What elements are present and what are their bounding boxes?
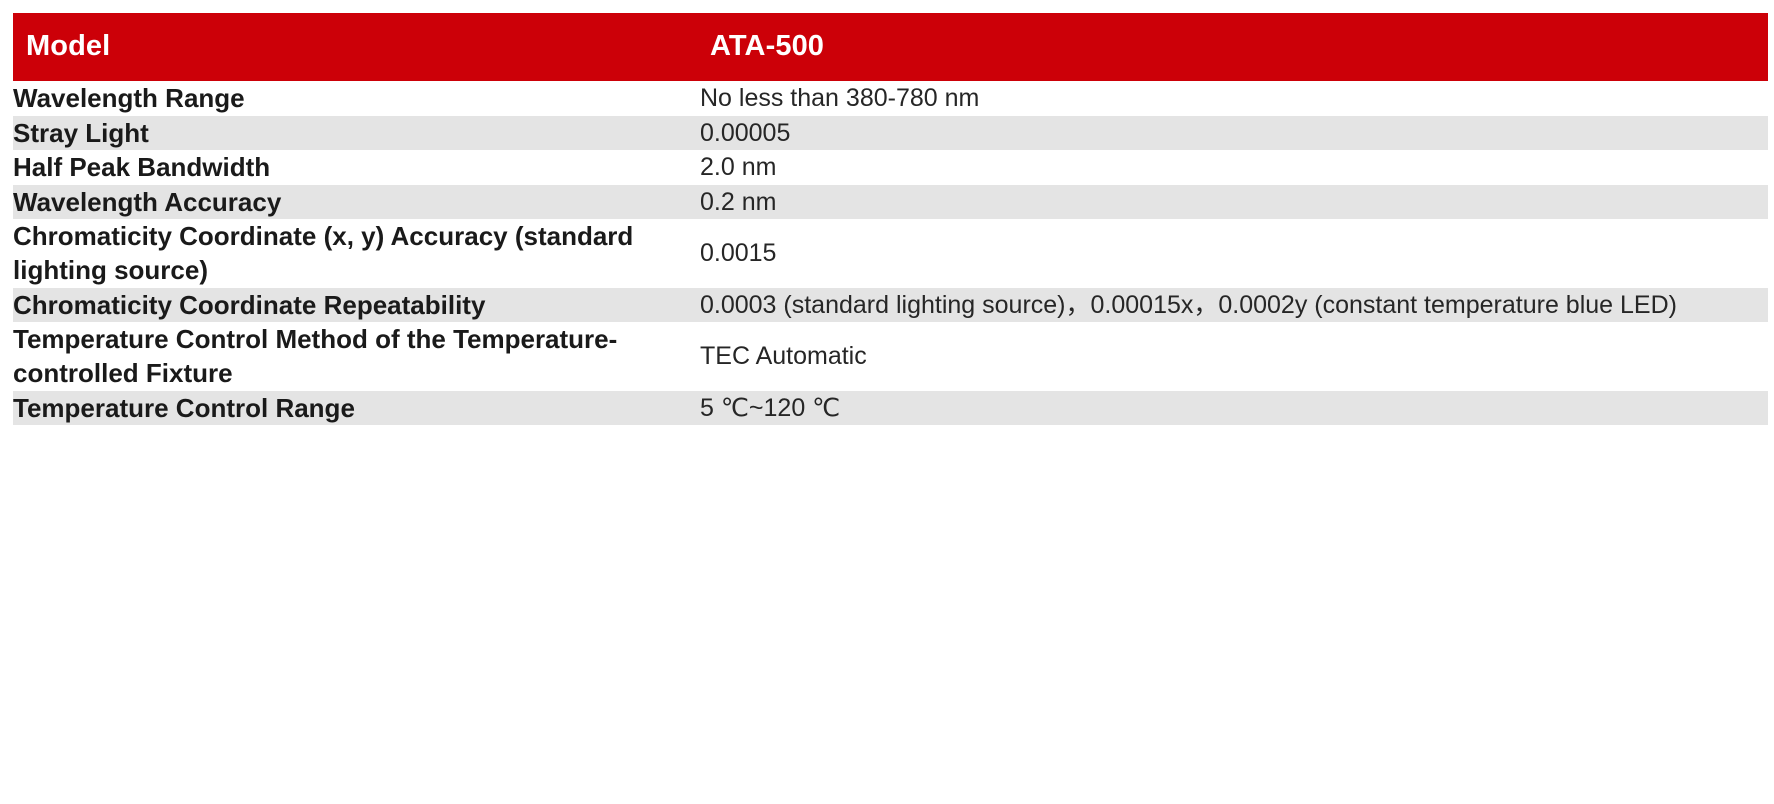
table-row: Wavelength Accuracy 0.2 nm bbox=[13, 185, 1768, 220]
specification-table-container: Model ATA-500 Wavelength Range No less t… bbox=[0, 0, 1774, 804]
table-row: Temperature Control Method of the Temper… bbox=[13, 322, 1768, 391]
row-value: 0.0003 (standard lighting source)，0.0001… bbox=[700, 288, 1768, 323]
row-label: Temperature Control Range bbox=[13, 391, 700, 426]
row-value: 0.0015 bbox=[700, 219, 1768, 288]
row-value: 0.00005 bbox=[700, 116, 1768, 151]
table-row: Chromaticity Coordinate Repeatability 0.… bbox=[13, 288, 1768, 323]
row-label: Half Peak Bandwidth bbox=[13, 150, 700, 185]
row-label: Temperature Control Method of the Temper… bbox=[13, 322, 700, 391]
table-header-row: Model ATA-500 bbox=[13, 13, 1768, 81]
row-value: 5 ℃~120 ℃ bbox=[700, 391, 1768, 426]
row-label: Stray Light bbox=[13, 116, 700, 151]
table-row: Stray Light 0.00005 bbox=[13, 116, 1768, 151]
row-value: No less than 380-780 nm bbox=[700, 81, 1768, 116]
table-row: Wavelength Range No less than 380-780 nm bbox=[13, 81, 1768, 116]
table-row: Temperature Control Range 5 ℃~120 ℃ bbox=[13, 391, 1768, 426]
row-value: 0.2 nm bbox=[700, 185, 1768, 220]
specification-table: Model ATA-500 Wavelength Range No less t… bbox=[13, 13, 1768, 425]
table-row: Half Peak Bandwidth 2.0 nm bbox=[13, 150, 1768, 185]
table-row: Chromaticity Coordinate (x, y) Accuracy … bbox=[13, 219, 1768, 288]
row-label: Wavelength Range bbox=[13, 81, 700, 116]
row-value: TEC Automatic bbox=[700, 322, 1768, 391]
row-value: 2.0 nm bbox=[700, 150, 1768, 185]
header-cell-model-value: ATA-500 bbox=[700, 13, 1768, 81]
row-label: Wavelength Accuracy bbox=[13, 185, 700, 220]
row-label: Chromaticity Coordinate (x, y) Accuracy … bbox=[13, 219, 700, 288]
header-cell-model: Model bbox=[13, 13, 700, 81]
row-label: Chromaticity Coordinate Repeatability bbox=[13, 288, 700, 323]
